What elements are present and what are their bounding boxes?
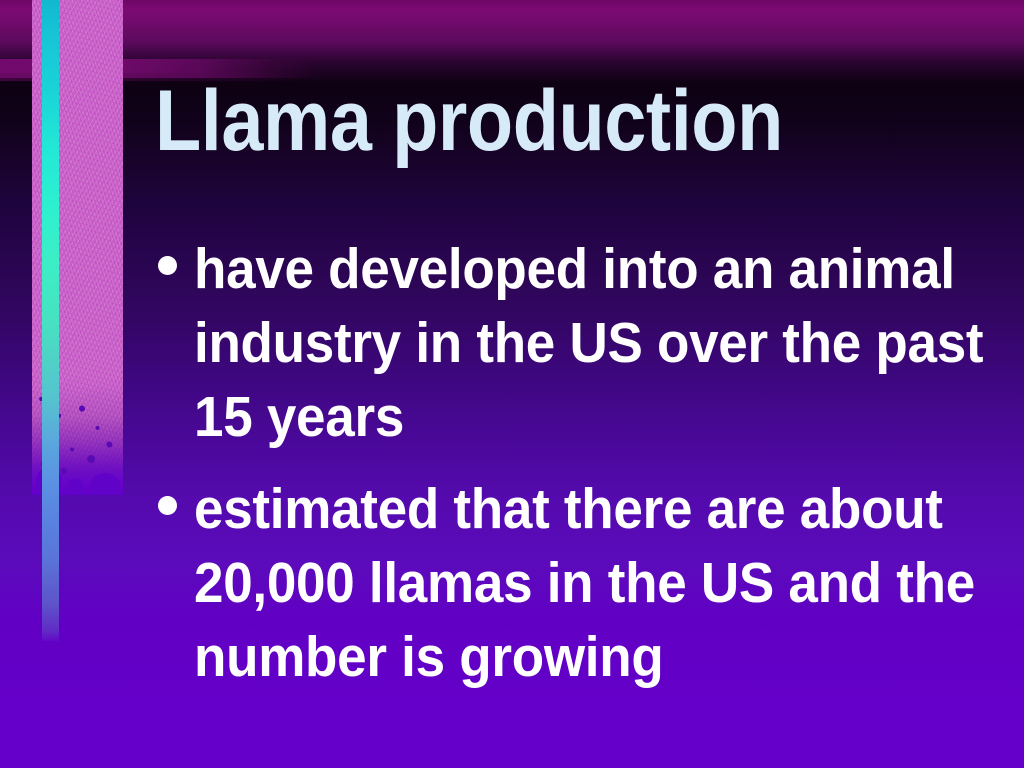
bullet-dot-icon bbox=[158, 496, 177, 515]
cyan-vertical-stripe bbox=[42, 0, 59, 641]
list-item: estimated that there are about 20,000 ll… bbox=[152, 472, 1024, 694]
texture-notch bbox=[90, 473, 120, 495]
presentation-slide: Llama production have developed into an … bbox=[0, 0, 1024, 768]
slide-title: Llama production bbox=[155, 78, 894, 164]
list-item: have developed into an animal industry i… bbox=[152, 232, 1024, 454]
list-item-text: estimated that there are about 20,000 ll… bbox=[194, 472, 1024, 694]
list-item-text: have developed into an animal industry i… bbox=[194, 232, 1024, 454]
bullet-dot-icon bbox=[158, 256, 177, 275]
texture-notch bbox=[66, 479, 84, 495]
slide-body-list: have developed into an animal industry i… bbox=[152, 232, 1024, 695]
cyan-vertical-stripe-fade bbox=[42, 560, 59, 641]
